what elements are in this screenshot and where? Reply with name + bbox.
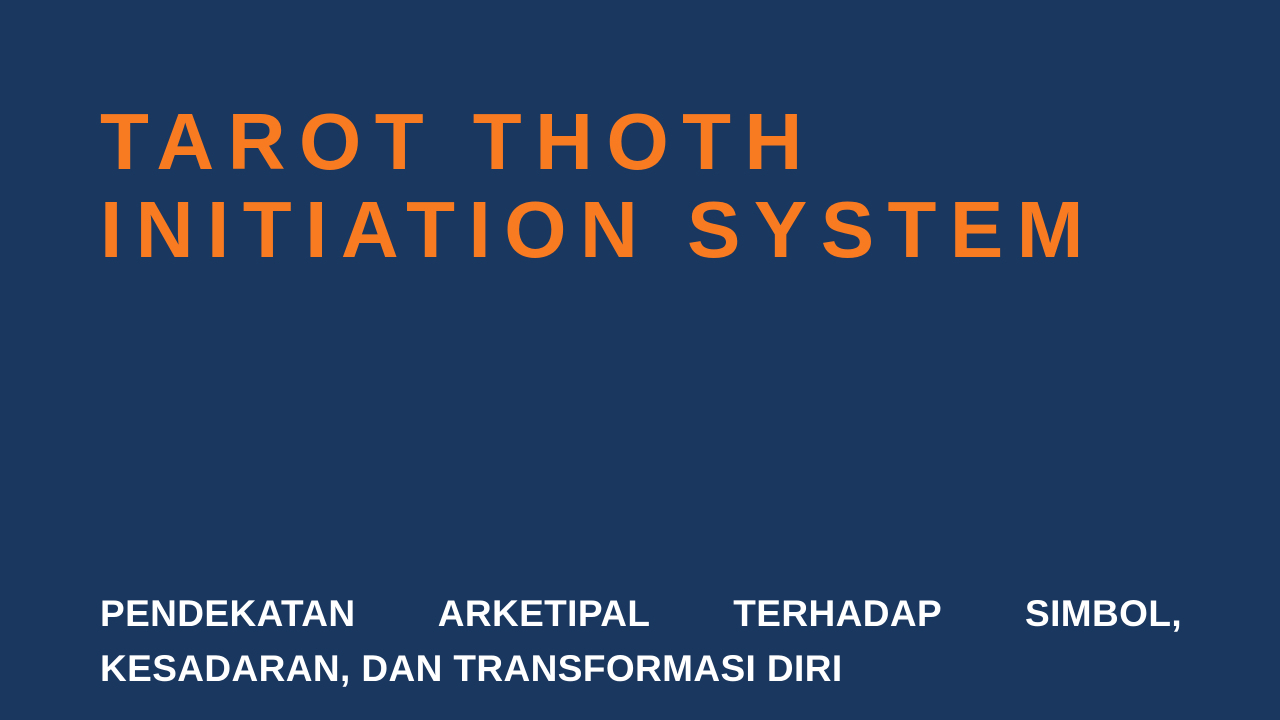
subtitle-block: PENDEKATAN ARKETIPAL TERHADAP SIMBOL, KE…: [100, 586, 1182, 696]
title-block: TAROT THOTH INITIATION SYSTEM: [100, 98, 1180, 274]
slide-title: TAROT THOTH INITIATION SYSTEM: [100, 98, 1180, 274]
subtitle-line-2: KESADARAN, DAN TRANSFORMASI DIRI: [100, 641, 1182, 696]
slide-subtitle: PENDEKATAN ARKETIPAL TERHADAP SIMBOL, KE…: [100, 586, 1182, 696]
subtitle-line-1: PENDEKATAN ARKETIPAL TERHADAP SIMBOL,: [100, 586, 1182, 641]
presentation-slide: TAROT THOTH INITIATION SYSTEM PENDEKATAN…: [0, 0, 1280, 720]
